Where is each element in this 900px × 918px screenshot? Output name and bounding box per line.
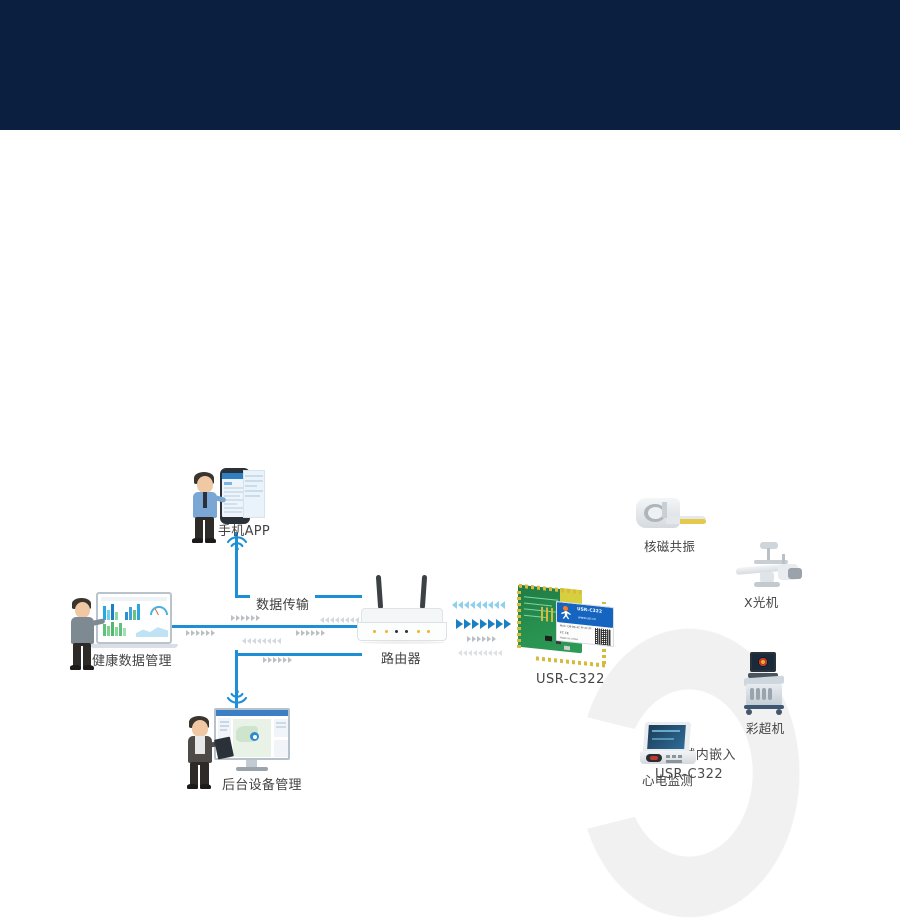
usr-logo-icon	[560, 605, 573, 620]
mri-scanner-icon	[636, 496, 708, 534]
ring-device-ecg[interactable]: 心电监测	[618, 722, 724, 788]
network-topology-diagram: 医疗器械内嵌入 USR-C322 数据传输	[0, 130, 900, 866]
node-router[interactable]: 路由器	[355, 575, 451, 655]
monitor-foot	[236, 767, 268, 771]
label-mac-address: MAC: D8-B0-4C-FF-FF-FF	[560, 624, 592, 630]
node-label-module: USR-C322	[536, 672, 605, 687]
label-certification-marks: FC CE	[560, 630, 569, 635]
router-antenna-left	[376, 575, 383, 609]
ecg-monitor-icon	[638, 722, 704, 768]
person-shoe-right	[200, 784, 211, 789]
router-front-shell	[357, 622, 447, 641]
ring-device-ultrasound[interactable]: 彩超机	[728, 652, 812, 734]
person-shoe-right	[205, 538, 216, 543]
ultrasound-cart-icon	[740, 652, 800, 716]
flow-marker-backward-1	[320, 617, 359, 623]
flow-marker-forward-4	[263, 657, 292, 663]
node-label-health-data-management: 健康数据管理	[92, 650, 172, 669]
monitor-neck	[246, 760, 257, 767]
router-antenna-right	[420, 575, 427, 609]
ring-device-xray[interactable]: X光机	[726, 542, 812, 612]
ring-device-label-ecg: 心电监测	[642, 770, 693, 789]
ring-device-label-mri: 核磁共振	[644, 536, 695, 555]
flow-marker-router-module-forward-2	[467, 636, 496, 642]
node-health-data-management[interactable]: 健康数据管理	[68, 592, 186, 672]
person-shirt	[195, 736, 205, 754]
person-shoe-left	[192, 538, 203, 543]
person-head	[197, 476, 213, 493]
xray-machine-icon	[732, 542, 806, 590]
node-backend-device-management[interactable]: 后台设备管理	[184, 708, 304, 790]
flow-marker-forward-3	[296, 630, 325, 636]
person-shoe-left	[70, 665, 81, 670]
label-made-in: MADE IN CHINA	[560, 636, 578, 641]
router-shadow	[361, 641, 445, 644]
node-label-router: 路由器	[381, 648, 421, 667]
qr-code-icon	[595, 628, 611, 646]
flow-marker-router-module-backward-1	[452, 601, 505, 609]
router-led-5	[417, 630, 420, 633]
flow-marker-router-module-backward-2	[458, 650, 502, 656]
person-head	[75, 602, 90, 618]
app-background-sheet	[243, 470, 265, 518]
ring-device-label-xray: X光机	[744, 592, 778, 611]
link-laptop-to-router	[172, 625, 362, 628]
laptop-screen	[96, 592, 172, 644]
node-label-phone-app: 手机APP	[218, 520, 270, 539]
flow-marker-forward-2	[186, 630, 215, 636]
router-led-6	[427, 630, 430, 633]
node-phone-app[interactable]: 手机APP	[188, 468, 296, 544]
flow-marker-forward-1	[231, 615, 260, 621]
ring-device-label-ultrasound: 彩超机	[746, 718, 784, 737]
module-castellated-pads-left	[517, 590, 521, 648]
laptop-base	[90, 644, 178, 648]
node-wifi-module[interactable]: USR-C322 www.usr.cn MAC: D8-B0-4C-FF-FF-…	[512, 588, 622, 688]
router-led-1	[373, 630, 376, 633]
header-banner	[0, 0, 900, 130]
router-led-2	[385, 630, 388, 633]
link-label-data-transfer: 数据传输	[250, 592, 315, 615]
flow-marker-router-module-forward-1	[456, 619, 511, 629]
person-shoe-left	[187, 784, 198, 789]
link-backend-branch-horizontal	[235, 653, 362, 656]
router-led-4	[405, 630, 408, 633]
ring-device-mri[interactable]: 核磁共振	[620, 496, 726, 556]
flow-marker-backward-2	[242, 638, 281, 644]
person-tie	[203, 492, 207, 508]
module-product-label: USR-C322 www.usr.cn MAC: D8-B0-4C-FF-FF-…	[556, 601, 614, 647]
node-label-backend-device-management: 后台设备管理	[222, 774, 302, 793]
router-led-3	[395, 630, 398, 633]
person-head	[192, 720, 208, 737]
